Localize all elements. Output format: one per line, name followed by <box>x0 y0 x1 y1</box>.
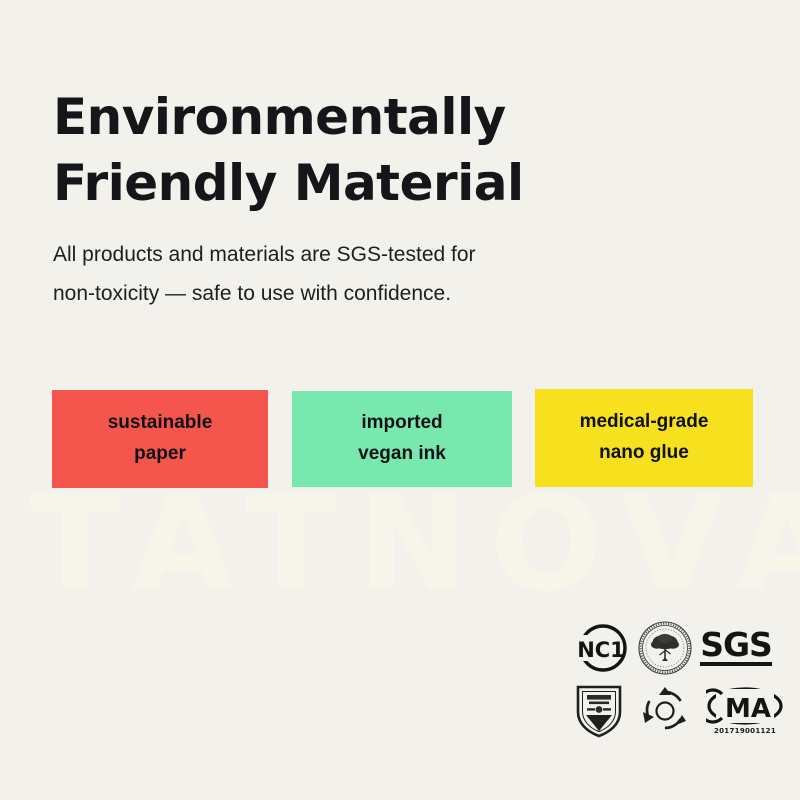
material-chip-label-line-2: nano glue <box>599 438 689 469</box>
material-chip-label-line-2: paper <box>134 439 186 470</box>
page-title-line-2: Friendly Material <box>53 150 753 216</box>
fsc-tree-seal-icon <box>637 620 693 676</box>
page-subtitle-line-2: non-toxicity — safe to use with confiden… <box>53 275 693 314</box>
certification-badge-row-top: NC1 <box>576 620 773 675</box>
sgs-certification-mark: SGS <box>699 624 773 672</box>
page-subtitle-line-1: All products and materials are SGS-teste… <box>53 236 693 275</box>
page-title: Environmentally Friendly Material <box>53 84 753 216</box>
svg-text:NC1: NC1 <box>577 638 625 662</box>
cma-certification-code: 201719001121 <box>714 727 776 735</box>
material-chip-label-line-2: vegan ink <box>358 439 446 470</box>
svg-text:MA: MA <box>725 694 771 724</box>
page-title-line-1: Environmentally <box>53 88 506 146</box>
certification-badge-row-bottom: MA 201719001121 <box>574 680 784 740</box>
material-chip-group: sustainable paper imported vegan ink med… <box>52 389 762 499</box>
recycling-symbol-icon <box>638 683 692 737</box>
sgs-underline-bar <box>700 662 772 666</box>
promo-graphic-canvas: TATNOVA Environmentally Friendly Materia… <box>0 0 800 800</box>
material-chip-imported-vegan-ink: imported vegan ink <box>292 391 512 487</box>
material-chip-sustainable-paper: sustainable paper <box>52 390 268 488</box>
shield-quality-icon <box>574 682 624 738</box>
certification-badge-group: NC1 <box>572 620 782 745</box>
material-chip-label-line-1: sustainable <box>108 408 213 439</box>
cma-certification-mark: MA 201719001121 <box>706 682 784 738</box>
material-chip-label-line-1: medical-grade <box>580 407 709 438</box>
page-subtitle: All products and materials are SGS-teste… <box>53 236 693 314</box>
material-chip-label-line-1: imported <box>361 408 442 439</box>
sgs-wordmark-label: SGS <box>700 629 772 661</box>
nc1-certification-icon: NC1 <box>576 622 630 674</box>
material-chip-medical-grade-nano-glue: medical-grade nano glue <box>535 389 753 487</box>
